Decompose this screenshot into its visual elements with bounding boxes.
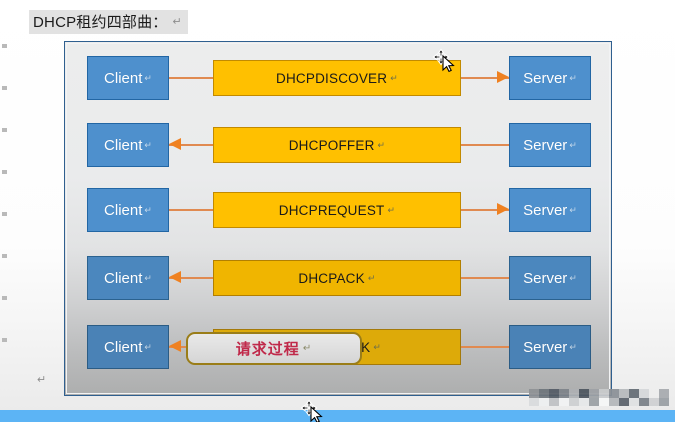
server-label: Server [523,202,567,219]
client-box[interactable]: Client↵ [87,256,169,300]
paragraph-mark-icon: ↵ [567,73,577,84]
client-label: Client [104,202,142,219]
paragraph-mark-icon: ↵ [142,205,152,216]
paragraph-mark-icon: ↵ [387,73,398,84]
message-label: DHCPACK [298,271,364,286]
server-label: Server [523,339,567,356]
page-title: DHCP租约四部曲：↵ [29,10,188,34]
arrowhead-right-icon [497,203,509,215]
server-box[interactable]: Server↵ [509,325,591,369]
paragraph-mark-icon: ↵ [365,273,376,284]
server-box[interactable]: Server↵ [509,56,591,100]
server-label: Server [523,137,567,154]
paragraph-mark-icon: ↵ [142,73,152,84]
page-margin-ticks [2,38,10,368]
client-label: Client [104,270,142,287]
connector-right [461,144,509,146]
flow-row-dhcpack: Client↵ DHCPACK↵ Server↵ [65,256,613,302]
message-box-dhcpdiscover[interactable]: DHCPDISCOVER↵ [213,60,461,96]
client-box[interactable]: Client↵ [87,123,169,167]
arrowhead-left-icon [169,340,181,352]
footer-callout-box[interactable]: 请求过程↵ [186,332,362,365]
arrowhead-left-icon [169,271,181,283]
paragraph-mark-icon: ↵ [142,273,152,284]
message-label: DHCPOFFER [289,138,375,153]
flow-row-dhcpdiscover: Client↵ DHCPDISCOVER↵ Server↵ [65,56,613,102]
client-label: Client [104,339,142,356]
server-box[interactable]: Server↵ [509,256,591,300]
client-box[interactable]: Client↵ [87,56,169,100]
paragraph-mark-icon: ↵ [375,140,386,151]
client-label: Client [104,137,142,154]
paragraph-mark-icon: ↵ [142,342,152,353]
server-box[interactable]: Server↵ [509,123,591,167]
paragraph-mark-icon: ↵ [567,205,577,216]
arrowhead-right-icon [497,71,509,83]
paragraph-mark-icon: ↵ [142,140,152,151]
paragraph-mark-icon: ↵ [300,343,312,354]
page-title-text: DHCP租约四部曲： [33,14,168,31]
client-box[interactable]: Client↵ [87,325,169,369]
message-label: DHCPDISCOVER [276,71,387,86]
blurred-watermark [529,389,669,406]
paragraph-mark-icon: ↵ [567,140,577,151]
message-box-dhcpack[interactable]: DHCPACK↵ [213,260,461,296]
connector-left [169,77,213,79]
client-label: Client [104,70,142,87]
screenshot-root: DHCP租约四部曲：↵ Client↵ DHCPDISCOVER↵ Server… [0,0,675,422]
client-box[interactable]: Client↵ [87,188,169,232]
paragraph-mark-icon: ↵ [168,16,182,28]
server-label: Server [523,270,567,287]
footer-callout-label: 请求过程 [236,338,300,359]
paragraph-mark-icon: ↵ [37,373,46,386]
paragraph-mark-icon: ↵ [370,342,381,353]
message-label: DHCPREQUEST [279,203,385,218]
connector-left [169,209,213,211]
paragraph-mark-icon: ↵ [567,342,577,353]
flow-row-dhcpoffer: Client↵ DHCPOFFER↵ Server↵ [65,123,613,169]
server-label: Server [523,70,567,87]
paragraph-mark-icon: ↵ [567,273,577,284]
message-box-dhcpoffer[interactable]: DHCPOFFER↵ [213,127,461,163]
arrowhead-left-icon [169,138,181,150]
video-progress-bar[interactable] [0,410,675,422]
connector-right [461,346,509,348]
server-box[interactable]: Server↵ [509,188,591,232]
flow-row-dhcprequest: Client↵ DHCPREQUEST↵ Server↵ [65,188,613,234]
paragraph-mark-icon: ↵ [384,205,395,216]
connector-right [461,277,509,279]
message-box-dhcprequest[interactable]: DHCPREQUEST↵ [213,192,461,228]
